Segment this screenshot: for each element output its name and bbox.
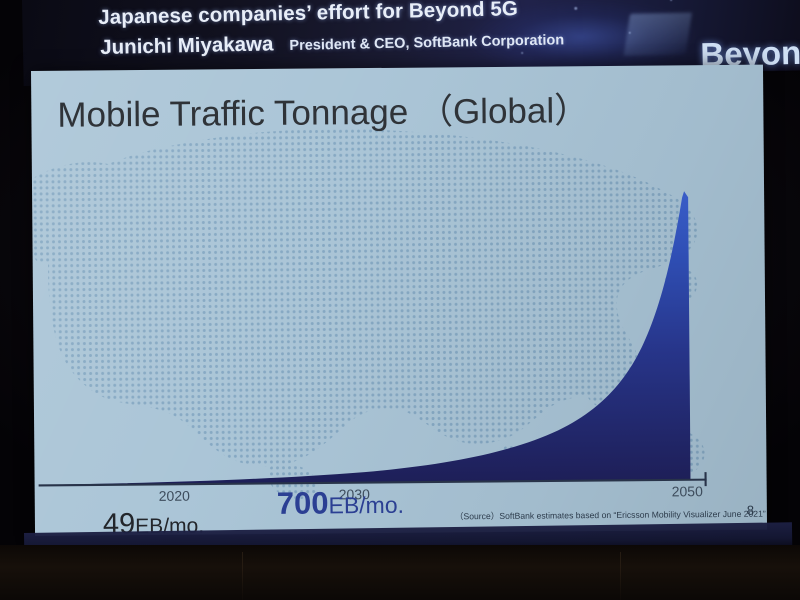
axis-tick-2050: 2050 <box>672 483 703 499</box>
slide-canvas: Mobile Traffic Tonnage （Global） 2020 203… <box>31 65 767 536</box>
annotation-700eb-unit: EB/mo. <box>328 492 404 520</box>
annotation-700eb: 700 EB/mo. <box>277 485 404 522</box>
speaker-role: President & CEO, SoftBank Corporation <box>289 32 564 54</box>
floor-seam <box>242 552 243 600</box>
banner-device-image <box>624 13 693 56</box>
banner-spark-icon <box>521 52 523 54</box>
traffic-area-series <box>38 191 690 485</box>
page-number: 8 <box>747 503 754 518</box>
room-floor <box>0 545 800 600</box>
projected-slide-photo: Japanese companies’ effort for Beyond 5G… <box>0 0 800 600</box>
floor-seam <box>620 552 621 600</box>
annotation-700eb-number: 700 <box>277 485 329 521</box>
traffic-growth-area-chart <box>31 65 767 536</box>
banner-spark-icon <box>629 32 631 34</box>
speaker-name: Junichi Miyakawa <box>100 32 274 60</box>
axis-tick-2020: 2020 <box>159 488 190 504</box>
banner-spark-icon <box>574 7 577 10</box>
